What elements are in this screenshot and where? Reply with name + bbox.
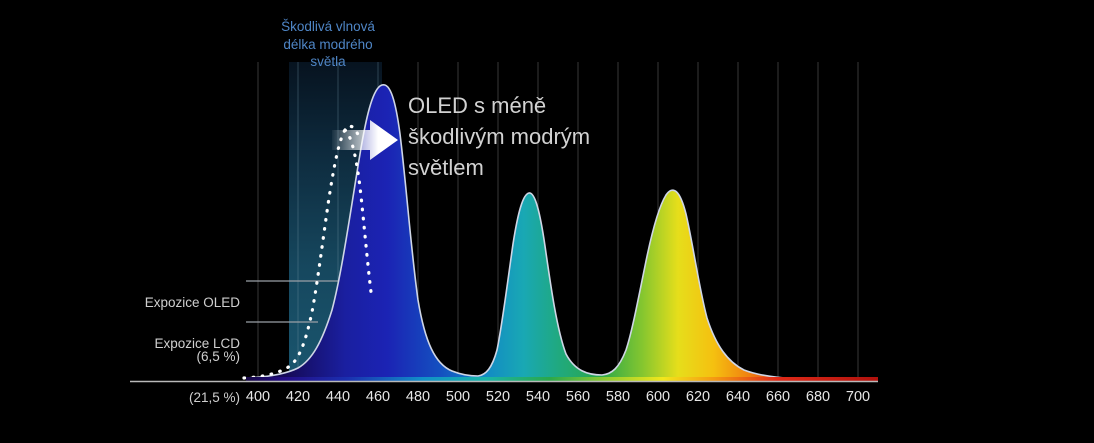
x-tick-440: 440 (318, 389, 358, 405)
x-tick-600: 600 (638, 389, 678, 405)
harmful-blue-band-caption: Škodlivá vlnová délka modrého světla (258, 18, 398, 71)
x-tick-620: 620 (678, 389, 718, 405)
oled-callout-text: OLED s méně škodlivým modrým světlem (408, 90, 658, 183)
x-tick-540: 540 (518, 389, 558, 405)
x-tick-560: 560 (558, 389, 598, 405)
x-tick-500: 500 (438, 389, 478, 405)
x-tick-680: 680 (798, 389, 838, 405)
spectrum-figure: Škodlivá vlnová délka modrého světla OLE… (0, 0, 1094, 426)
x-tick-420: 420 (278, 389, 318, 405)
x-axis-tick-labels: 4004204404604805005205405605806006206406… (0, 389, 1094, 413)
x-tick-700: 700 (838, 389, 878, 405)
x-tick-520: 520 (478, 389, 518, 405)
x-tick-640: 640 (718, 389, 758, 405)
exposure-lcd-annotation: Expozice LCD (21,5 %) (40, 299, 240, 443)
x-tick-460: 460 (358, 389, 398, 405)
exposure-lcd-label: Expozice LCD (40, 335, 240, 353)
x-tick-580: 580 (598, 389, 638, 405)
x-tick-660: 660 (758, 389, 798, 405)
x-tick-480: 480 (398, 389, 438, 405)
x-tick-400: 400 (238, 389, 278, 405)
